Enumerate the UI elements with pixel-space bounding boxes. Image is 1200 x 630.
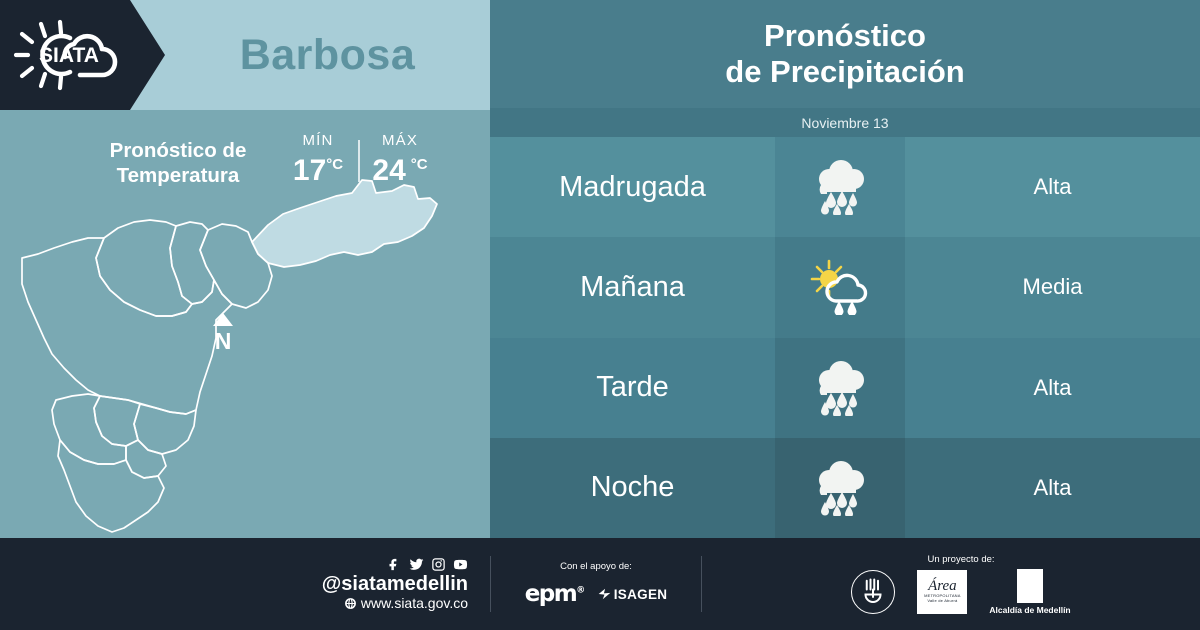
support-logos: epm® ISAGEN [525,581,668,607]
temperature-title-line1: Pronóstico de [110,139,247,162]
city-title: Barbosa [165,0,490,110]
condor-seal-icon [858,577,888,607]
forecast-row-tarde[interactable]: Tarde [490,338,1200,438]
north-label: N [215,328,232,354]
siata-logo[interactable]: SIATA [0,0,165,110]
website-row[interactable]: www.siata.gov.co [344,595,468,612]
probability-value: Alta [905,137,1200,237]
epm-wordmark: epm [525,581,577,607]
forecast-rows: Madrugada [490,137,1200,538]
weather-icon-cell [775,237,905,337]
municipality-la-estrella [52,394,126,464]
sun-cloud-rain-icon [809,259,871,315]
rain-cloud-icon [809,460,871,516]
forecast-date: Noviembre 13 [801,115,888,131]
sun-cloud-icon: SIATA [8,18,126,92]
alcaldia-logo[interactable]: Alcaldía de Medellín [989,569,1070,615]
period-label: Mañana [490,237,775,337]
twitter-icon[interactable] [409,557,424,572]
probability-value: Media [905,237,1200,337]
weather-icon-cell [775,137,905,237]
social-block: @siatamedellin www.siata.gov.co [0,557,490,612]
isagen-logo[interactable]: ISAGEN [597,587,668,602]
rain-cloud-icon [809,159,871,215]
amva-script: Área [928,580,957,593]
instagram-icon[interactable] [431,557,446,572]
project-caption: Un proyecto de: [927,554,994,565]
forecast-title-line1: Pronóstico [764,18,926,54]
municipality-medellin [22,238,232,414]
support-block: Con el apoyo de: epm® ISAGEN [491,561,701,607]
epm-logo[interactable]: epm® [525,581,584,607]
project-logos: Área METROPOLITANA Valle de Aburrá Alcal… [851,569,1070,615]
project-block: Un proyecto de: Área METROPOLITANA Valle… [702,554,1200,615]
forecast-row-madrugada[interactable]: Madrugada [490,137,1200,237]
weather-forecast-poster: SIATA Barbosa Pronóstico de Temperatura … [0,0,1200,630]
forecast-row-noche[interactable]: Noche [490,438,1200,538]
precipitation-panel: Pronóstico de Precipitación Noviembre 13… [490,0,1200,538]
globe-icon [344,597,357,610]
amva-sub2: Valle de Aburrá [927,598,957,603]
weather-icon-cell [775,438,905,538]
municipality-itagui [94,396,140,446]
period-label: Tarde [490,338,775,438]
municipality-caldas [58,440,164,532]
area-metropolitana-logo[interactable]: Área METROPOLITANA Valle de Aburrá [917,570,967,614]
municipality-copacabana [170,222,214,304]
facebook-icon[interactable] [387,557,402,572]
forecast-date-band: Noviembre 13 [490,108,1200,137]
social-icons [387,557,468,572]
period-label: Noche [490,438,775,538]
map-svg: N [0,168,490,538]
probability-value: Alta [905,338,1200,438]
precipitation-header: Pronóstico de Precipitación [490,0,1200,108]
social-handle[interactable]: @siatamedellin [322,573,468,595]
isagen-wordmark: ISAGEN [614,587,668,602]
logo-wordmark: SIATA [39,44,99,67]
period-label: Madrugada [490,137,775,237]
support-caption: Con el apoyo de: [560,561,632,572]
alcaldia-mark-icon [1017,569,1043,603]
probability-value: Alta [905,438,1200,538]
unal-seal-logo[interactable] [851,570,895,614]
rain-cloud-icon [809,360,871,416]
isagen-mark-icon [597,587,612,601]
left-header: SIATA Barbosa [0,0,490,110]
alcaldia-label: Alcaldía de Medellín [989,605,1070,615]
left-body: Pronóstico de Temperatura MÍN 17°C MÁX 2… [0,110,490,538]
website-url: www.siata.gov.co [361,595,468,612]
footer: @siatamedellin www.siata.gov.co Con el a… [0,538,1200,630]
min-label: MÍN [282,132,354,149]
weather-icon-cell [775,338,905,438]
forecast-row-manana[interactable]: Mañana [490,237,1200,337]
left-panel: SIATA Barbosa Pronóstico de Temperatura … [0,0,490,538]
max-label: MÁX [364,132,436,149]
municipality-barbosa [252,180,437,267]
municipality-bello [96,220,192,316]
forecast-title-line2: de Precipitación [725,54,964,90]
aburra-valley-map[interactable]: N [0,168,490,538]
youtube-icon[interactable] [453,557,468,572]
